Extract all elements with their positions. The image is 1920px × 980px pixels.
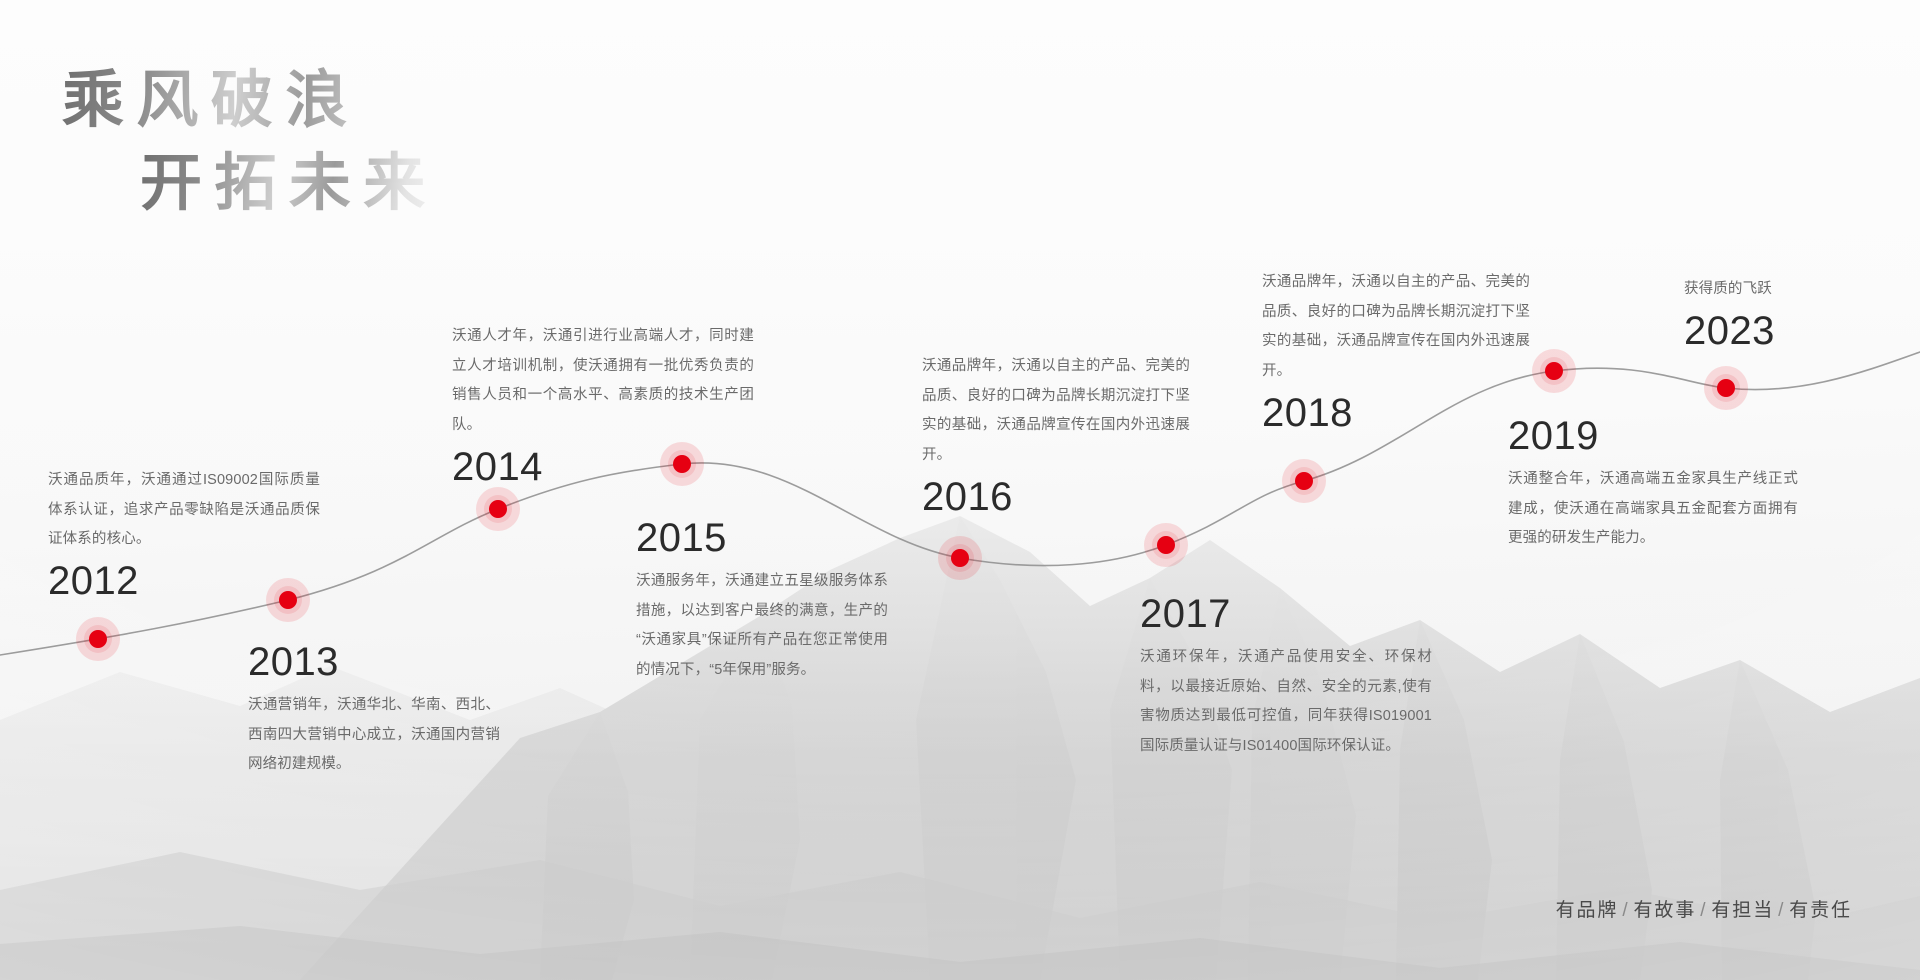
milestone-year-label: 2012	[48, 559, 320, 604]
tagline-separator: /	[1618, 900, 1633, 921]
milestone-2016[interactable]: 沃通品牌年，沃通以自主的产品、完美的品质、良好的口碑为品牌长期沉淀打下坚实的基础…	[922, 352, 1190, 520]
tagline-item-3: 有责任	[1789, 900, 1852, 921]
timeline-node-2014[interactable]	[476, 487, 520, 531]
tagline-item-0: 有品牌	[1556, 900, 1619, 921]
tagline-separator: /	[1696, 900, 1711, 921]
milestone-2017[interactable]: 2017沃通环保年，沃通产品使用安全、环保材料，以最接近原始、自然、安全的元素,…	[1140, 592, 1432, 762]
milestone-description: 沃通环保年，沃通产品使用安全、环保材料，以最接近原始、自然、安全的元素,使有害物…	[1140, 643, 1432, 762]
milestone-2013[interactable]: 2013沃通营销年，沃通华北、华南、西北、西南四大营销中心成立，沃通国内营销网络…	[248, 640, 500, 780]
milestone-description: 沃通整合年，沃通高端五金家具生产线正式建成，使沃通在高端家具五金配套方面拥有更强…	[1508, 465, 1798, 554]
footer-tagline: 有品牌/有故事/有担当/有责任	[1556, 895, 1852, 922]
milestone-year-label: 2013	[248, 640, 500, 685]
milestone-description: 沃通服务年，沃通建立五星级服务体系措施，以达到客户最终的满意，生产的“沃通家具”…	[636, 567, 888, 686]
milestone-year-label: 2015	[636, 516, 888, 561]
headline-line-2: 开拓未来	[140, 149, 438, 220]
milestone-2023[interactable]: 获得质的飞跃2023	[1684, 275, 1894, 354]
timeline-node-2016[interactable]	[938, 536, 982, 580]
headline: 乘风破浪 开拓未来	[62, 66, 438, 219]
milestone-2012[interactable]: 沃通品质年，沃通通过IS09002国际质量体系认证，追求产品零缺陷是沃通品质保证…	[48, 466, 320, 604]
timeline-node-2012[interactable]	[76, 617, 120, 661]
milestone-year-label: 2023	[1684, 309, 1894, 354]
timeline-node-2023[interactable]	[1704, 366, 1748, 410]
milestone-year-label: 2017	[1140, 592, 1432, 637]
milestone-year-label: 2018	[1262, 391, 1530, 436]
milestone-description: 沃通品牌年，沃通以自主的产品、完美的品质、良好的口碑为品牌长期沉淀打下坚实的基础…	[922, 352, 1190, 471]
milestone-2015[interactable]: 2015沃通服务年，沃通建立五星级服务体系措施，以达到客户最终的满意，生产的“沃…	[636, 516, 888, 686]
milestone-description: 沃通品质年，沃通通过IS09002国际质量体系认证，追求产品零缺陷是沃通品质保证…	[48, 466, 320, 555]
timeline-node-2018[interactable]	[1282, 459, 1326, 503]
milestone-year-label: 2016	[922, 475, 1190, 520]
milestone-description: 沃通人才年，沃通引进行业高端人才，同时建立人才培训机制，使沃通拥有一批优秀负责的…	[452, 322, 754, 441]
milestone-description: 获得质的飞跃	[1684, 275, 1894, 305]
milestone-description: 沃通品牌年，沃通以自主的产品、完美的品质、良好的口碑为品牌长期沉淀打下坚实的基础…	[1262, 268, 1530, 387]
milestone-2014[interactable]: 沃通人才年，沃通引进行业高端人才，同时建立人才培训机制，使沃通拥有一批优秀负责的…	[452, 322, 754, 490]
milestone-year-label: 2019	[1508, 414, 1798, 459]
timeline-poster: 乘风破浪 开拓未来 沃通品质年，沃通通过IS09002国际质量体系认证，追求产品…	[0, 0, 1920, 980]
headline-line-1: 乘风破浪	[62, 66, 438, 137]
tagline-item-2: 有担当	[1711, 900, 1774, 921]
milestone-description: 沃通营销年，沃通华北、华南、西北、西南四大营销中心成立，沃通国内营销网络初建规模…	[248, 691, 500, 780]
tagline-item-1: 有故事	[1634, 900, 1697, 921]
milestone-2018[interactable]: 沃通品牌年，沃通以自主的产品、完美的品质、良好的口碑为品牌长期沉淀打下坚实的基础…	[1262, 268, 1530, 436]
milestone-2019[interactable]: 2019沃通整合年，沃通高端五金家具生产线正式建成，使沃通在高端家具五金配套方面…	[1508, 414, 1798, 554]
milestone-year-label: 2014	[452, 445, 754, 490]
timeline-node-2019[interactable]	[1532, 349, 1576, 393]
tagline-separator: /	[1774, 900, 1789, 921]
timeline-node-2017[interactable]	[1144, 523, 1188, 567]
